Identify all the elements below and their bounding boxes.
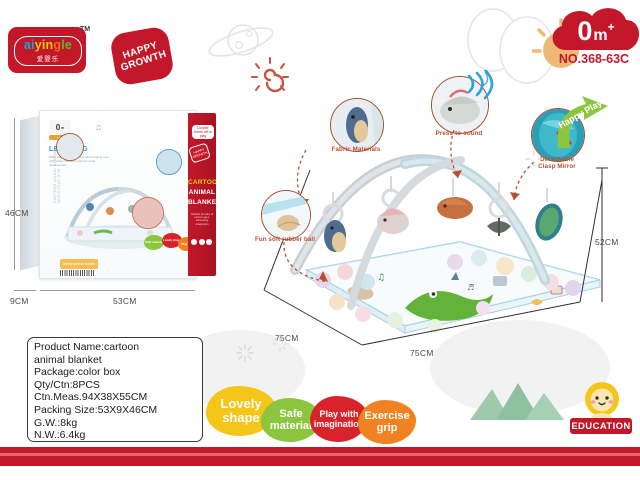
brand-logo: aiyingle 爱婴乐 (8, 27, 86, 73)
product-width-label: 75CM (410, 348, 433, 358)
brand-logo-chinese: 爱婴乐 (37, 53, 60, 63)
product-height-label: 52CM (595, 237, 618, 247)
logo-part-2: yin (35, 38, 54, 52)
package-age-unit: m (61, 126, 64, 130)
happy-growth-label: HAPPY GROWTH (106, 22, 177, 89)
package-side-title-2: ANIMAL (188, 189, 216, 197)
package-age-number: 0 (56, 123, 60, 132)
info-line-4: Qty/Ctn:8PCS (34, 379, 196, 392)
info-line-8: N.W.:6.4kg (34, 429, 196, 442)
callout-fabric-materials-label: Fabric Materials (322, 146, 390, 153)
lovely-shape-line2: shape (222, 410, 260, 425)
package-box-depth-panel (20, 116, 40, 271)
package-side-happy-tag: HAPPY GROWTH (188, 142, 211, 163)
happy-growth-badge: HAPPY GROWTH (109, 25, 175, 86)
callout-rubber-ball-photo (261, 190, 311, 240)
package-side-icon-row (191, 239, 212, 245)
exercise-grip-line1: Exercise (364, 410, 409, 422)
package-caption: cartoon animal blanket (60, 259, 98, 269)
callout-press-to-sound-leader (440, 128, 474, 190)
brand-logo-inner: aiyingle 爱婴乐 (14, 36, 82, 66)
education-badge: EDUCATION (570, 418, 632, 434)
info-line-1: Product Name:cartoon (34, 341, 196, 354)
package-side-icon-2 (199, 239, 205, 245)
model-number: NO.368-63C (548, 52, 640, 66)
lovely-shape-line1: Lovely (220, 396, 261, 411)
package-side-icon-3 (206, 239, 212, 245)
package-height-label: 46CM (5, 208, 28, 218)
package-side-title-1: CARTOON (188, 179, 216, 187)
package-width-label: 53CM (113, 296, 136, 306)
product-sheet: aiyingle 爱婴乐 TM HAPPY GROWTH (0, 0, 640, 480)
package-callout-circle-2 (156, 149, 182, 175)
packaging-box-photo: 0m AGE LEARNING Baby play gym activity m… (20, 110, 215, 285)
logo-part-4: le (61, 38, 72, 52)
product-info-card: Product Name:cartoon animal blanket Pack… (27, 337, 203, 442)
info-line-2: animal blanket (34, 354, 196, 367)
safe-material-line1: Safe (279, 408, 302, 420)
feature-badge-safe-material-text: Safe material (270, 408, 312, 432)
feature-badge-exercise-grip: Exercise grip (358, 400, 416, 444)
package-height-dimline (14, 118, 15, 270)
info-line-7: G.W.:8kg (34, 417, 196, 430)
package-depth-label: 9CM (10, 296, 29, 306)
package-side-title-3: BLANKET (188, 199, 216, 207)
age-unit: m (593, 28, 607, 44)
play-imagination-line1: Play with (319, 409, 358, 419)
age-badge-text: 0 m + (560, 18, 632, 52)
logo-part-1: ai (24, 38, 35, 52)
play-imagination-line2: imagination (314, 419, 365, 429)
package-side-icon-1 (191, 239, 197, 245)
package-box-side-panel: Double holds off to play HAPPY GROWTH CA… (188, 113, 216, 276)
info-line-5: Ctn.Meas.94X38X55CM (34, 391, 196, 404)
info-line-3: Package:color box (34, 366, 196, 379)
package-side-note: Suitable for baby of various ages, stimu… (190, 213, 214, 226)
sound-wave-icon (463, 70, 497, 104)
happy-play-label-wrap: Happy Play (556, 104, 626, 122)
package-side-white-badge: Double holds off to play (192, 125, 214, 139)
package-box-front-panel: 0m AGE LEARNING Baby play gym activity m… (39, 110, 197, 279)
callout-fabric-materials-photo (330, 98, 384, 152)
sun-spiral-doodle-icon (248, 55, 292, 95)
feature-badge-lovely-shape-text: Lovely shape (220, 397, 261, 425)
info-line-6: Packing Size:53X9X46CM (34, 404, 196, 417)
exercise-grip-line2: grip (377, 422, 398, 434)
barcode (60, 270, 94, 276)
sparkle-icon-3 (525, 150, 543, 168)
brand-logo-wordmark: aiyingle (24, 39, 72, 52)
music-note-icon: ♫ (95, 122, 102, 132)
feature-badge-exercise-grip-text: Exercise grip (364, 410, 409, 434)
package-callout-circle-3 (132, 197, 164, 229)
package-width-dimline (40, 290, 195, 291)
sparkle-icon-1 (236, 344, 254, 362)
age-number: 0 (577, 18, 592, 45)
callout-rubber-ball-leader (278, 240, 342, 298)
package-depth-dimline (14, 290, 36, 291)
safe-material-line2: material (270, 420, 312, 432)
trademark-symbol: TM (80, 26, 90, 33)
footer-bar-bottom (0, 456, 640, 466)
feature-badge-play-with-imagination-text: Play with imagination (314, 409, 365, 429)
sparkle-icon-2 (272, 336, 288, 352)
age-plus-sign: + (608, 21, 615, 33)
package-vertical-text: CARTOON ANIMAL BLANKET / MUSIC PLAY GYM (53, 143, 61, 203)
